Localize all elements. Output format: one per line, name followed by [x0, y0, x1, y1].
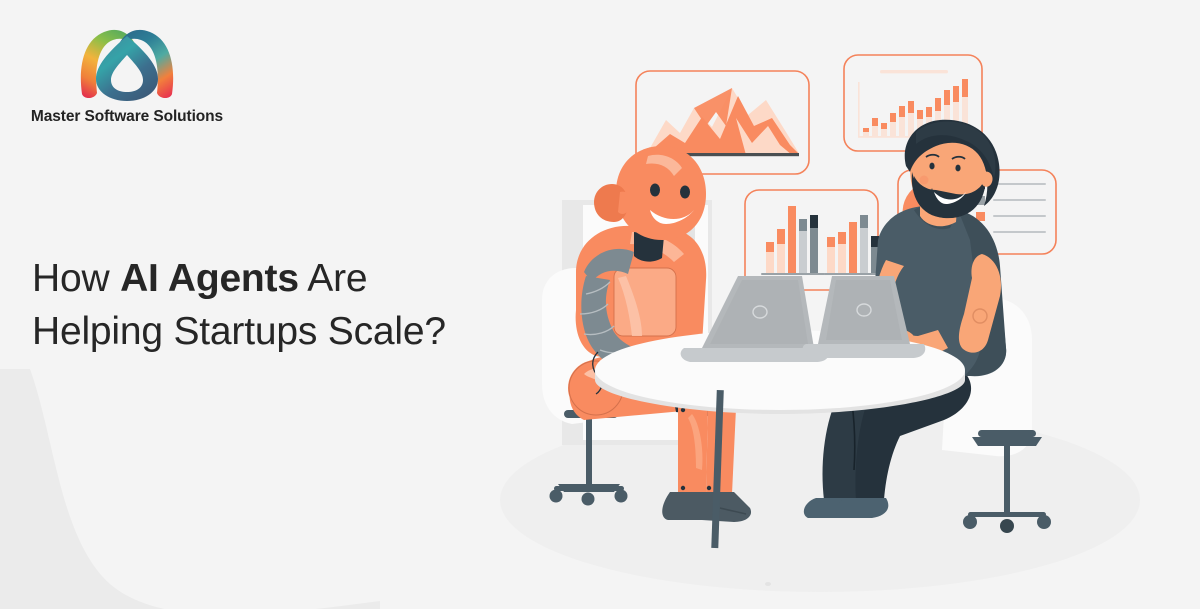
man-eye-left	[929, 163, 934, 170]
headline-line1-prefix: How	[32, 257, 120, 300]
robot-eye-left	[650, 184, 660, 197]
msa-double-loop-logo-icon	[68, 22, 186, 102]
brand-name: Master Software Solutions	[27, 108, 227, 126]
card-title-bar	[880, 70, 948, 73]
floor-speck	[765, 582, 771, 586]
man-head	[905, 120, 1000, 218]
headline-line1-suffix: Are	[299, 257, 368, 300]
headline-line2: Helping Startups Scale?	[32, 310, 446, 353]
background-blob-shape	[0, 369, 380, 609]
grouped-bar-chart-card[interactable]	[745, 190, 886, 290]
hero-illustration	[480, 0, 1200, 609]
y-axis-line	[858, 82, 860, 137]
banner-root: Master Software Solutions How AI Agents …	[0, 0, 1200, 609]
headline-line1-strong: AI Agents	[120, 257, 299, 300]
man-cheek-left	[920, 176, 929, 185]
man-shoe-right	[836, 498, 889, 518]
robot-eye-right	[680, 186, 690, 199]
brand-logo[interactable]: Master Software Solutions	[27, 22, 227, 126]
man-eye-right	[955, 165, 960, 172]
page-title: How AI Agents Are Helping Startups Scale…	[32, 252, 502, 359]
